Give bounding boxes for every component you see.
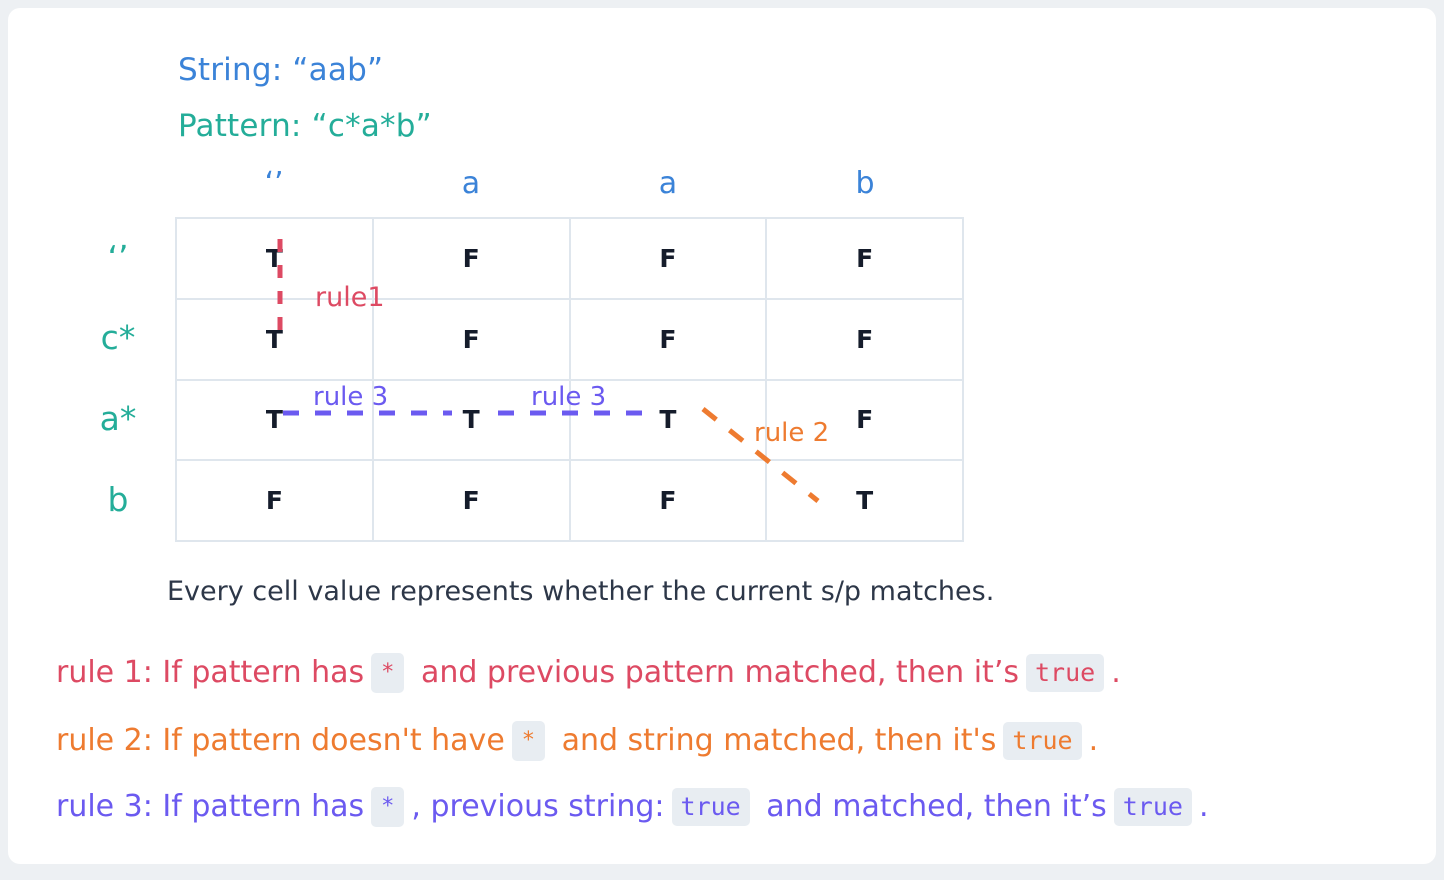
rule1-annotation-label: rule1 [315, 282, 385, 313]
code-chip: true [1026, 654, 1104, 692]
rule-text-segment: rule 2: If pattern doesn't have [56, 721, 505, 761]
content-card: String: “aab” Pattern: “c*a*b” ‘’ a a b … [8, 8, 1436, 864]
rule-text-segment: and previous pattern matched, then it’s [411, 653, 1019, 693]
rule3-annotation-label-a: rule 3 [313, 382, 388, 412]
rule3-annotation-label-b: rule 3 [531, 382, 606, 412]
code-chip: true [1003, 722, 1081, 760]
rule-text-segment: . [1089, 721, 1099, 761]
rule-2-line: rule 2: If pattern doesn't have* and str… [56, 721, 1098, 761]
rule-3-line: rule 3: If pattern has*, previous string… [56, 787, 1209, 827]
rule-text-segment: and string matched, then it's [552, 721, 996, 761]
code-chip: * [371, 787, 404, 827]
code-chip: true [1114, 788, 1192, 826]
rule-text-segment: rule 3: If pattern has [56, 787, 364, 827]
code-chip: true [672, 788, 750, 826]
rule2-annotation-label: rule 2 [754, 418, 829, 448]
code-chip: * [371, 653, 404, 693]
rule-text-segment: . [1199, 787, 1209, 827]
code-chip: * [512, 721, 545, 761]
rule-text-segment: . [1111, 653, 1121, 693]
caption-text: Every cell value represents whether the … [167, 576, 994, 607]
rule-1-line: rule 1: If pattern has* and previous pat… [56, 653, 1121, 693]
rule-text-segment: , previous string: [411, 787, 664, 827]
rule-text-segment: and matched, then it’s [757, 787, 1107, 827]
rule-text-segment: rule 1: If pattern has [56, 653, 364, 693]
